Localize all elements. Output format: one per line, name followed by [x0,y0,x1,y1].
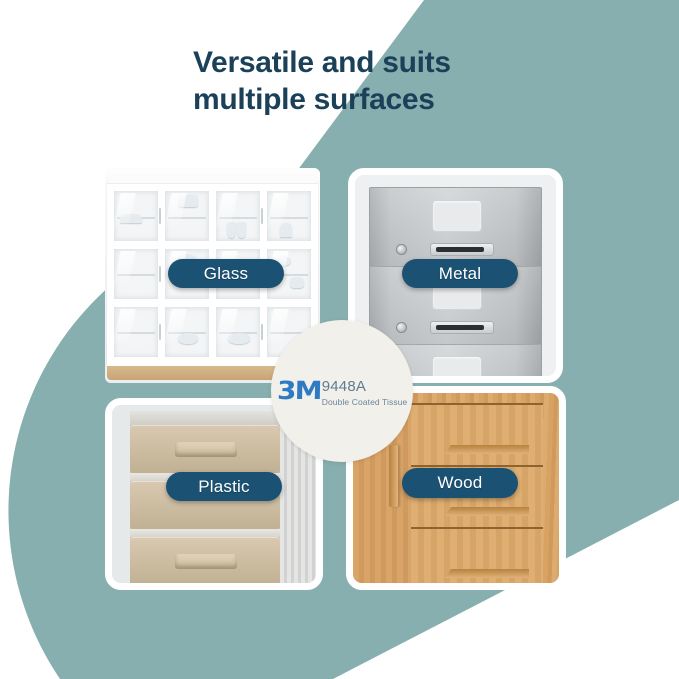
infographic-canvas: Versatile and suits multiple surfaces [0,0,679,679]
label-pill-plastic-text: Plastic [198,477,249,497]
wood-door-pull [389,445,398,507]
label-pill-metal[interactable]: Metal [402,259,518,288]
product-description: Double Coated Tissue [322,398,408,408]
brand-logo-3m: 3M [276,378,320,403]
page-title-line-1: Versatile and suits [193,46,451,79]
label-pill-plastic[interactable]: Plastic [166,472,282,501]
product-badge: 3M 9448A Double Coated Tissue [271,320,413,462]
product-code: 9448A [322,379,408,396]
label-pill-glass-text: Glass [204,264,248,284]
page-title-line-2: multiple surfaces [193,82,623,119]
label-pill-metal-text: Metal [439,264,482,284]
label-pill-wood-text: Wood [438,473,483,493]
page-title: Versatile and suits multiple surfaces [193,45,623,119]
label-pill-wood[interactable]: Wood [402,468,518,498]
label-pill-glass[interactable]: Glass [168,259,284,288]
